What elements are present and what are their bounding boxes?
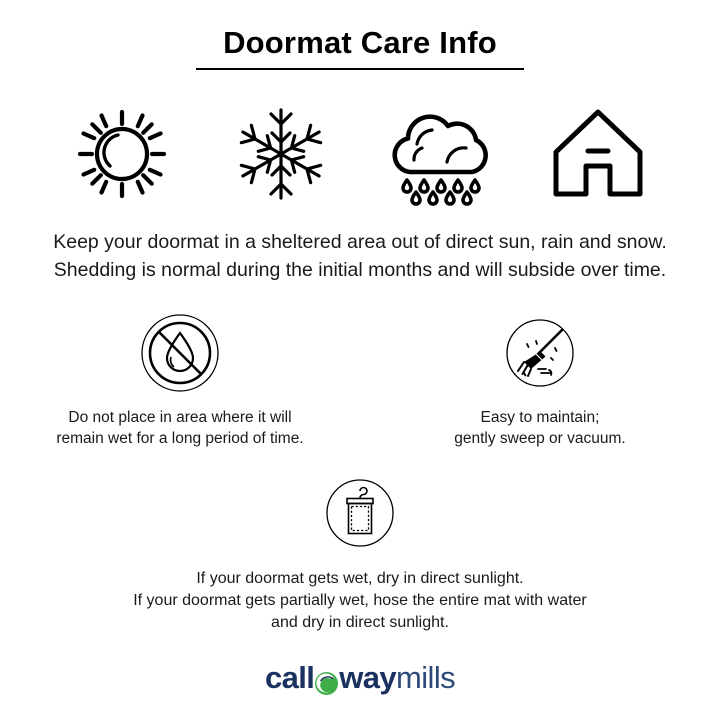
doormat-care-info-page: Doormat Care Info [0,0,720,720]
logo-primary-text: call [265,660,314,696]
hang-to-dry-icon [319,472,401,554]
title-block: Doormat Care Info [0,24,720,70]
intro-line-2: Shedding is normal during the initial mo… [0,256,720,284]
intro-line-1: Keep your doormat in a sheltered area ou… [0,228,720,256]
brand-logo: call way mills [0,658,720,698]
broom-icon [499,312,581,394]
tip-caption: Do not place in area where it will remai… [56,407,303,449]
sun-icon [62,100,182,208]
page-title: Doormat Care Info [0,24,720,62]
tip-line-2: remain wet for a long period of time. [56,428,303,449]
no-water-icon [139,312,221,394]
intro-paragraph: Keep your doormat in a sheltered area ou… [0,228,720,284]
title-underline [196,68,524,70]
logo-wordmark: call way mills [265,660,455,696]
logo-green-circle-icon [314,668,339,693]
tip-line-2: gently sweep or vacuum. [454,428,625,449]
tip-easy-maintain: Easy to maintain; gently sweep or vacuum… [360,312,720,449]
drying-line-3: and dry in direct sunlight. [133,612,587,634]
tip-line-1: Easy to maintain; [454,407,625,428]
snowflake-icon [221,100,341,208]
rain-cloud-icon [379,100,499,208]
logo-secondary-text: mills [396,660,455,696]
drying-line-2: If your doormat gets partially wet, hose… [133,590,587,612]
logo-primary-text-2: way [339,660,396,696]
drying-caption: If your doormat gets wet, dry in direct … [133,568,587,634]
tip-no-standing-water: Do not place in area where it will remai… [0,312,360,449]
house-icon [538,100,658,208]
tip-line-1: Do not place in area where it will [56,407,303,428]
care-tips-row: Do not place in area where it will remai… [0,312,720,449]
drying-instructions: If your doormat gets wet, dry in direct … [0,472,720,634]
drying-line-1: If your doormat gets wet, dry in direct … [133,568,587,590]
weather-icon-row [62,100,658,208]
tip-caption: Easy to maintain; gently sweep or vacuum… [454,407,625,449]
